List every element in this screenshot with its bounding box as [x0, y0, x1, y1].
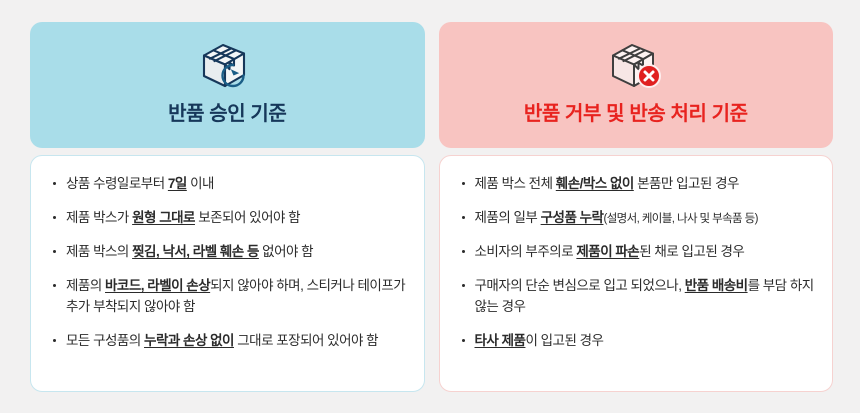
plain-text: 된 채로 입고된 경우 — [639, 244, 744, 259]
emphasis-text: 타사 제품 — [475, 333, 526, 348]
emphasis-text: 찢김, 낙서, 라벨 훼손 등 — [132, 244, 259, 259]
list-item: 소비자의 부주의로 제품이 파손된 채로 입고된 경우 — [460, 242, 817, 263]
box-return-arrow-icon — [196, 36, 258, 98]
plain-text: 그대로 포장되어 있어야 함 — [234, 333, 378, 348]
emphasis-text: 7일 — [168, 176, 187, 191]
emphasis-text: 반품 배송비 — [685, 278, 748, 293]
plain-text: 제품의 일부 — [475, 210, 541, 225]
reject-body-card: 제품 박스 전체 훼손/박스 없이 본품만 입고된 경우 제품의 일부 구성품 … — [439, 155, 834, 392]
emphasis-text: 훼손/박스 없이 — [556, 176, 634, 191]
return-policy-board: 반품 승인 기준 상품 수령일로부터 7일 이내 제품 박스가 원형 그대로 보… — [0, 0, 860, 413]
reject-title: 반품 거부 및 반송 처리 기준 — [524, 103, 748, 125]
reject-header-card: 반품 거부 및 반송 처리 기준 — [439, 22, 834, 148]
list-item: 제품의 일부 구성품 누락(설명서, 케이블, 나사 및 부속품 등) — [460, 208, 817, 229]
plain-text: 본품만 입고된 경우 — [634, 176, 739, 191]
approve-title: 반품 승인 기준 — [168, 103, 286, 125]
approve-column: 반품 승인 기준 상품 수령일로부터 7일 이내 제품 박스가 원형 그대로 보… — [30, 22, 425, 392]
approve-criteria-list: 상품 수령일로부터 7일 이내 제품 박스가 원형 그대로 보존되어 있어야 함… — [51, 174, 408, 352]
emphasis-text: 바코드, 라벨이 손상 — [105, 278, 210, 293]
list-item: 구매자의 단순 변심으로 입고 되었으나, 반품 배송비를 부담 하지 않는 경… — [460, 276, 817, 318]
emphasis-text: 누락과 손상 없이 — [144, 333, 234, 348]
plain-text: 제품의 — [66, 278, 105, 293]
emphasis-text: 구성품 누락 — [541, 210, 604, 225]
list-item: 제품의 바코드, 라벨이 손상되지 않아야 하며, 스티커나 테이프가 추가 부… — [51, 276, 408, 318]
plain-text: 제품 박스 전체 — [475, 176, 556, 191]
plain-text: 보존되어 있어야 함 — [195, 210, 300, 225]
plain-text: 구매자의 단순 변심으로 입고 되었으나, — [475, 278, 685, 293]
plain-text: 제품 박스가 — [66, 210, 132, 225]
plain-text: 이 입고된 경우 — [525, 333, 603, 348]
plain-text: 소비자의 부주의로 — [475, 244, 577, 259]
plain-text: 이내 — [187, 176, 214, 191]
list-item: 제품 박스의 찢김, 낙서, 라벨 훼손 등 없어야 함 — [51, 242, 408, 263]
emphasis-text: 제품이 파손 — [576, 244, 639, 259]
box-rejected-x-icon — [605, 36, 667, 98]
emphasis-text: 원형 그대로 — [132, 210, 195, 225]
plain-text: (설명서, 케이블, 나사 및 부속품 등) — [603, 213, 757, 225]
list-item: 상품 수령일로부터 7일 이내 — [51, 174, 408, 195]
approve-body-card: 상품 수령일로부터 7일 이내 제품 박스가 원형 그대로 보존되어 있어야 함… — [30, 155, 425, 392]
plain-text: 없어야 함 — [259, 244, 313, 259]
plain-text: 모든 구성품의 — [66, 333, 144, 348]
plain-text: 제품 박스의 — [66, 244, 132, 259]
approve-header-card: 반품 승인 기준 — [30, 22, 425, 148]
list-item: 제품 박스가 원형 그대로 보존되어 있어야 함 — [51, 208, 408, 229]
list-item: 타사 제품이 입고된 경우 — [460, 331, 817, 352]
list-item: 제품 박스 전체 훼손/박스 없이 본품만 입고된 경우 — [460, 174, 817, 195]
reject-column: 반품 거부 및 반송 처리 기준 제품 박스 전체 훼손/박스 없이 본품만 입… — [439, 22, 834, 392]
plain-text: 상품 수령일로부터 — [66, 176, 168, 191]
reject-criteria-list: 제품 박스 전체 훼손/박스 없이 본품만 입고된 경우 제품의 일부 구성품 … — [460, 174, 817, 352]
list-item: 모든 구성품의 누락과 손상 없이 그대로 포장되어 있어야 함 — [51, 331, 408, 352]
